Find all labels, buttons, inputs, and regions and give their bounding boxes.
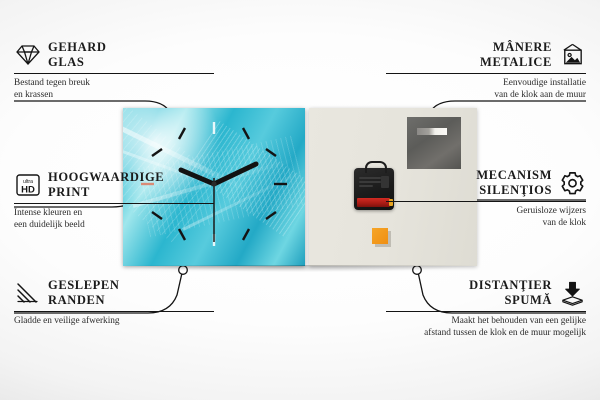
divider — [14, 203, 214, 204]
hanger-slot — [417, 128, 447, 135]
product-shadow — [123, 265, 477, 272]
feature-title: GEHARD GLAS — [48, 40, 106, 70]
metal-hanger-plate — [407, 117, 461, 169]
feature-hoogwaardige-print: ultra HD HOOGWAARDIGE PRINT Intense kleu… — [14, 170, 214, 231]
foam-spacer-arrow-icon — [559, 279, 586, 306]
foam-spacer-pad — [372, 228, 388, 244]
gear-icon — [559, 169, 586, 196]
minute-hand — [214, 164, 256, 184]
feature-manere-metalice: MÂNERE METALICE Eenvoudige installatie v… — [386, 40, 586, 101]
feature-mecanism-silentios: MECANISM SILENŢIOS Geruisloze wijzers va… — [386, 168, 586, 229]
mechanism-detail — [359, 181, 381, 183]
divider — [386, 201, 586, 202]
beveled-edge-icon — [14, 279, 41, 306]
feature-title: GESLEPEN RANDEN — [48, 278, 120, 308]
svg-text:HD: HD — [21, 184, 35, 195]
divider — [386, 73, 586, 74]
feature-description: Intense kleuren en een duidelijk beeld — [14, 207, 214, 232]
ultra-hd-icon: ultra HD — [14, 171, 41, 198]
feature-title: HOOGWAARDIGE PRINT — [48, 170, 164, 200]
mechanism-detail — [359, 185, 373, 187]
picture-frame-hanger-icon — [559, 41, 586, 68]
feature-description: Maakt het behouden van een gelijke afsta… — [386, 315, 586, 340]
hanging-loop — [365, 161, 387, 173]
feature-title: MECANISM SILENŢIOS — [476, 168, 552, 198]
product-infographic: GEHARD GLAS Bestand tegen breuk en krass… — [0, 0, 600, 400]
diamond-icon — [14, 41, 41, 68]
feature-gehard-glas: GEHARD GLAS Bestand tegen breuk en krass… — [14, 40, 214, 101]
mechanism-detail — [359, 177, 381, 179]
feature-distantier-spuma: DISTANŢIER SPUMĂ Maakt het behouden van … — [386, 278, 586, 339]
feature-description: Bestand tegen breuk en krassen — [14, 77, 214, 102]
feature-description: Eenvoudige installatie van de klok aan d… — [386, 77, 586, 102]
feature-title: MÂNERE METALICE — [480, 40, 552, 70]
feature-description: Geruisloze wijzers van de klok — [386, 205, 586, 230]
divider — [14, 311, 214, 312]
feature-title: DISTANŢIER SPUMĂ — [469, 278, 552, 308]
feature-geslepen-randen: GESLEPEN RANDEN Gladde en veilige afwerk… — [14, 278, 214, 327]
divider — [386, 311, 586, 312]
feature-description: Gladde en veilige afwerking — [14, 315, 214, 327]
divider — [14, 73, 214, 74]
